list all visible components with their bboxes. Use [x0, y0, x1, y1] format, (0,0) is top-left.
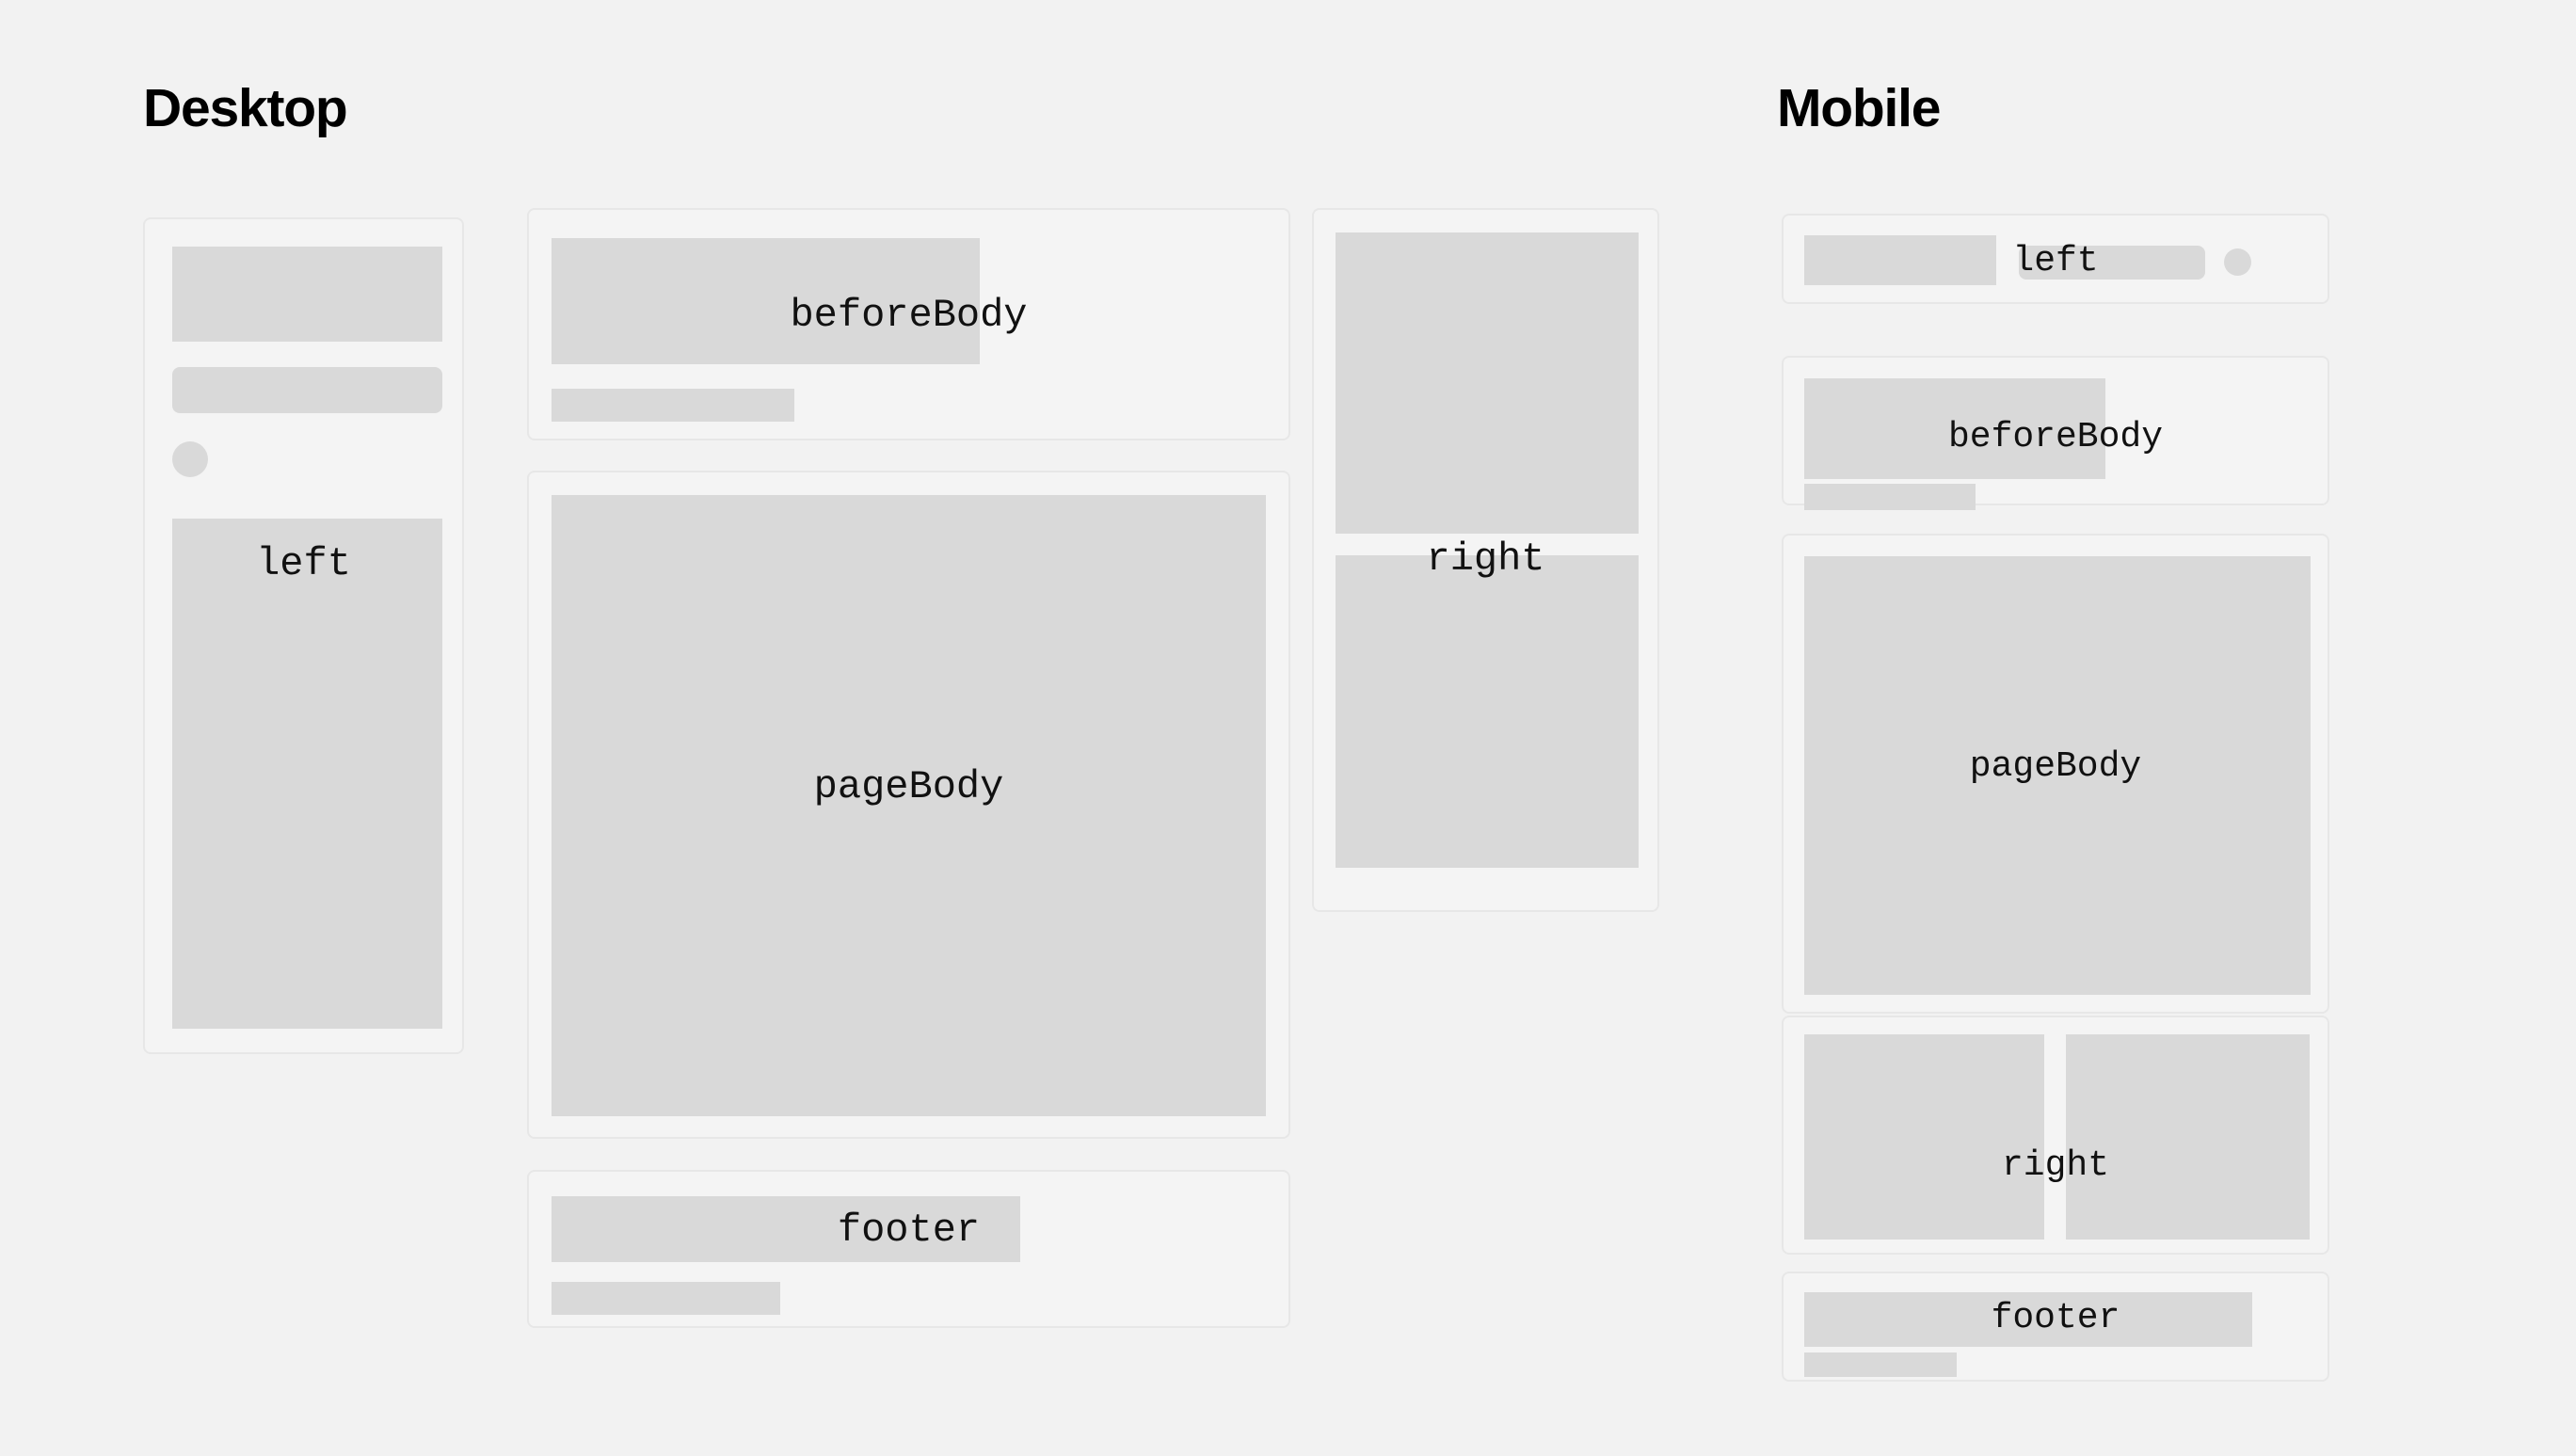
skeleton-block: [2066, 1034, 2310, 1240]
layout-preview-stage: Desktop left beforeBody pageBody right f…: [0, 0, 2576, 1456]
skeleton-block-tall: [172, 519, 442, 1029]
skeleton-block: [1336, 232, 1639, 534]
skeleton-block-small: [552, 389, 794, 422]
skeleton-block-small: [552, 1282, 780, 1315]
mobile-left-slot-panel[interactable]: [1782, 214, 2329, 304]
skeleton-block: [552, 1196, 1020, 1262]
mobile-page-body-slot-panel[interactable]: [1782, 534, 2329, 1014]
skeleton-avatar-circle: [172, 441, 208, 477]
mobile-footer-slot-panel[interactable]: [1782, 1272, 2329, 1382]
skeleton-block: [172, 247, 442, 342]
skeleton-block: [1804, 378, 2105, 479]
skeleton-block-small: [1804, 1352, 1957, 1377]
desktop-left-slot-panel[interactable]: [143, 217, 464, 1054]
skeleton-block: [1804, 1292, 2252, 1347]
skeleton-block-large: [1804, 556, 2311, 995]
mobile-section-heading: Mobile: [1777, 77, 1940, 139]
desktop-footer-slot-panel[interactable]: [527, 1170, 1290, 1328]
mobile-right-slot-panel[interactable]: [1782, 1016, 2329, 1255]
desktop-page-body-slot-panel[interactable]: [527, 471, 1290, 1139]
skeleton-block-large: [552, 495, 1266, 1116]
skeleton-block-small: [1804, 484, 1976, 510]
skeleton-block-rounded: [172, 367, 442, 413]
skeleton-block-rounded: [2019, 246, 2205, 280]
mobile-before-body-slot-panel[interactable]: [1782, 356, 2329, 505]
desktop-section-heading: Desktop: [143, 77, 346, 139]
desktop-before-body-slot-panel[interactable]: [527, 208, 1290, 440]
skeleton-block: [552, 238, 980, 364]
desktop-right-slot-panel[interactable]: [1312, 208, 1659, 912]
skeleton-block: [1804, 1034, 2044, 1240]
skeleton-avatar-circle: [2224, 248, 2251, 276]
skeleton-block: [1804, 235, 1996, 285]
skeleton-block: [1336, 555, 1639, 868]
